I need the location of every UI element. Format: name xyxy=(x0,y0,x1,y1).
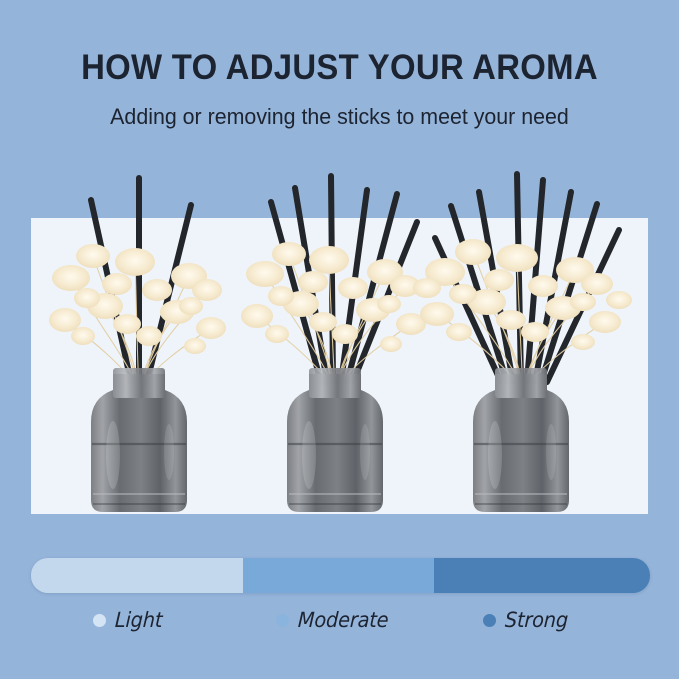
scale-segment-strong[interactable] xyxy=(434,558,650,593)
legend-label-light: Light xyxy=(114,608,162,632)
legend-dot-moderate-icon xyxy=(276,614,289,627)
legend-item-strong[interactable]: Strong xyxy=(483,608,574,632)
page-title: HOW TO ADJUST YOUR AROMA xyxy=(20,50,658,87)
page-subtitle: Adding or removing the sticks to meet yo… xyxy=(17,104,662,130)
intensity-scale-bar[interactable] xyxy=(31,558,650,593)
legend-item-light[interactable]: Light xyxy=(93,608,166,632)
legend: Light Moderate Strong xyxy=(31,608,650,644)
heading-block: HOW TO ADJUST YOUR AROMA Adding or remov… xyxy=(0,50,679,130)
legend-item-moderate[interactable]: Moderate xyxy=(276,608,396,632)
scale-segment-moderate[interactable] xyxy=(243,558,434,593)
legend-dot-light-icon xyxy=(93,614,106,627)
product-photo-panel xyxy=(31,218,648,514)
legend-label-moderate: Moderate xyxy=(297,608,389,632)
legend-dot-strong-icon xyxy=(483,614,496,627)
scale-segment-light[interactable] xyxy=(31,558,243,593)
poster-root: HOW TO ADJUST YOUR AROMA Adding or remov… xyxy=(0,0,679,679)
legend-label-strong: Strong xyxy=(504,608,568,632)
